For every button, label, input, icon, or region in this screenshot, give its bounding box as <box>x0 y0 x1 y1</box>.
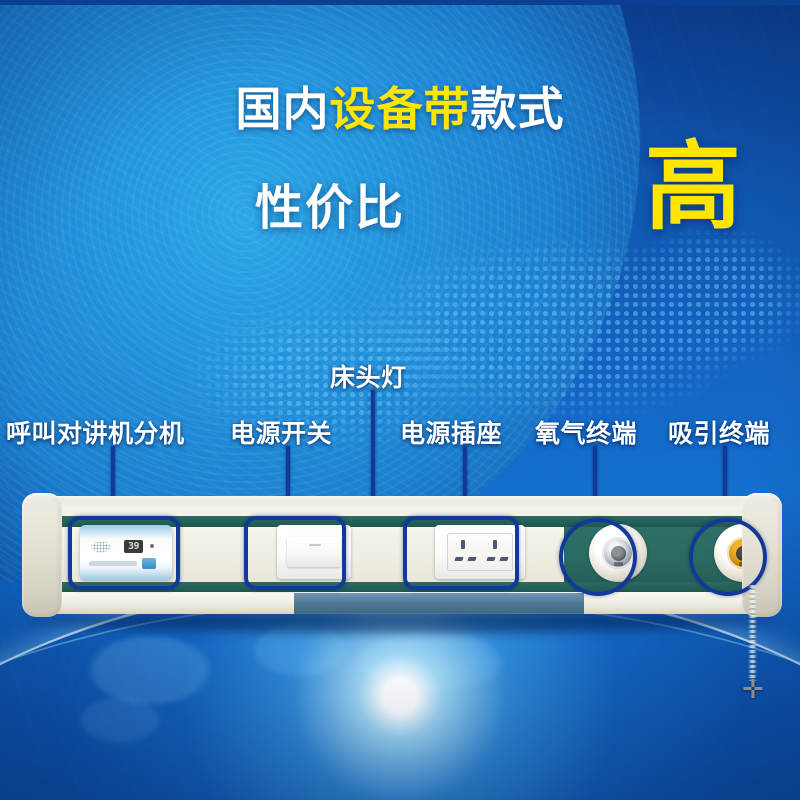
headline-highlight: 设备带 <box>330 83 471 135</box>
highlight-box-power-socket <box>403 516 519 590</box>
callout-label-power-switch: 电源开关 <box>230 414 332 450</box>
callout-label-call-intercom-extension: 呼叫对讲机分机 <box>6 414 185 450</box>
big-emphasis-char: 高 <box>645 140 741 236</box>
panel-rail-blue-section <box>294 593 584 614</box>
highlight-box-power-switch <box>244 516 346 590</box>
pull-cord-handle[interactable]: ✛ <box>742 676 762 702</box>
callout-label-power-socket: 电源插座 <box>400 414 502 450</box>
panel-end-cap-left <box>22 493 62 617</box>
headline-part-3: 款式 <box>471 83 565 135</box>
product-banner: 国内设备带款式 性价比 高 呼叫对讲机分机 电源开关 床头灯 电源插座 氧气终端… <box>0 0 800 800</box>
highlight-circle-oxygen-terminal <box>559 518 637 596</box>
subheadline: 性价比 <box>70 168 590 238</box>
headline: 国内设备带款式 <box>0 86 800 132</box>
callout-label-oxygen-terminal: 氧气终端 <box>535 414 637 450</box>
callout-label-bedside-lamp: 床头灯 <box>330 358 407 394</box>
callout-label-suction-terminal: 吸引终端 <box>668 414 770 450</box>
pull-cord[interactable] <box>748 585 757 681</box>
headline-part-1: 国内 <box>236 83 330 135</box>
top-edge-bar <box>0 0 800 5</box>
highlight-box-call-intercom-extension <box>68 516 180 590</box>
